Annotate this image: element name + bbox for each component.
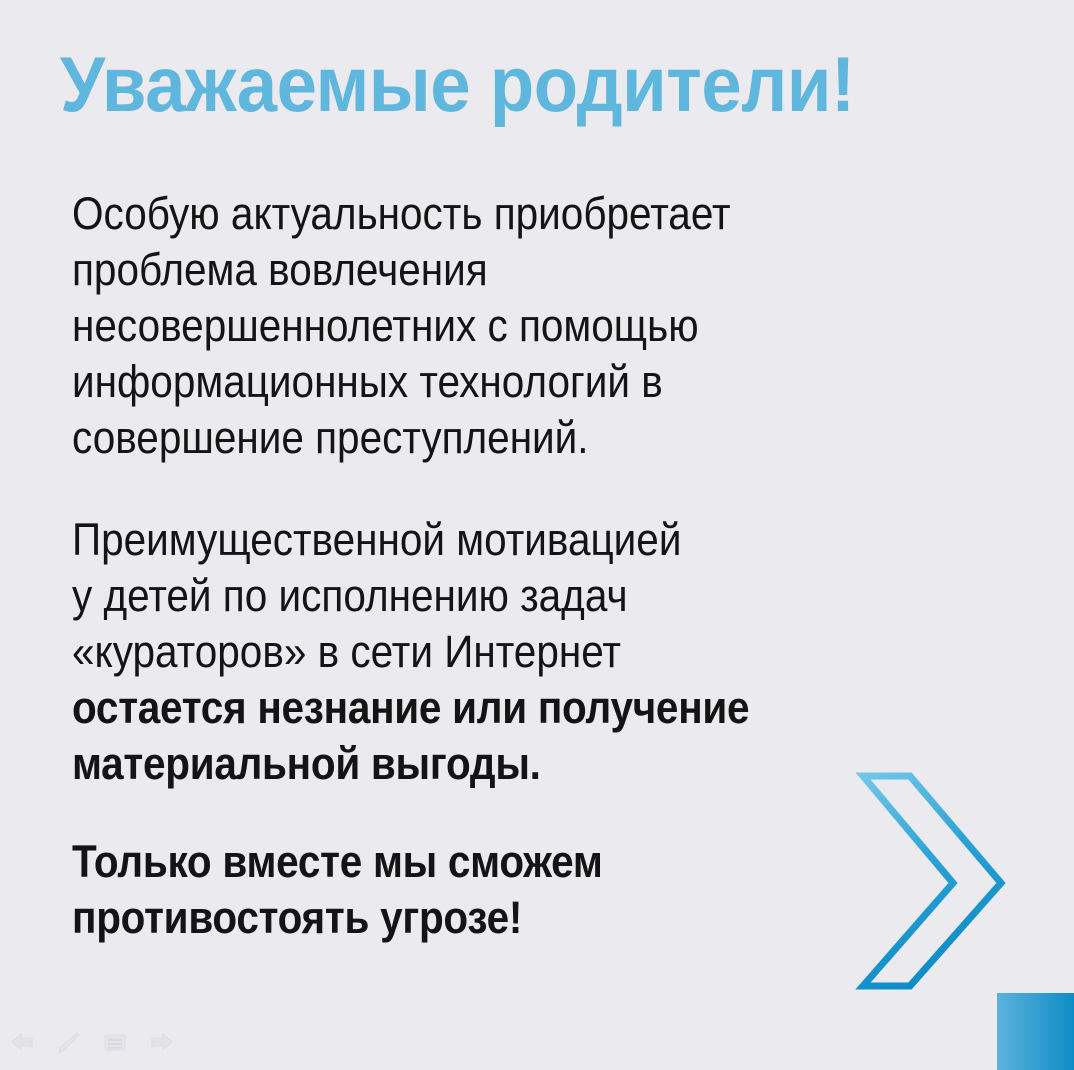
page-title: Уважаемые родители! [60,42,934,126]
arrow-right-icon[interactable] [146,1028,176,1056]
pencil-icon[interactable] [54,1028,84,1056]
paragraph-2-line-bold: остается незнание или получение [72,680,918,736]
paragraph-2: Преимущественной мотивацией у детей по и… [72,512,918,792]
paragraph-1-line: совершение преступлений. [72,410,918,466]
slide-body: Особую актуальность приобретает проблема… [72,186,1012,946]
paragraph-3-line: Только вместе мы сможем [72,834,918,890]
paragraph-3: Только вместе мы сможем противостоять уг… [72,834,918,946]
paragraph-1-line: Особую актуальность приобретает [72,186,918,242]
slide: Уважаемые родители! Особую актуальность … [0,0,1074,1070]
paragraph-3-line: противостоять угрозе! [72,890,918,946]
paragraph-1: Особую актуальность приобретает проблема… [72,186,918,466]
paragraph-1-line: проблема вовлечения [72,242,918,298]
paragraph-2-line-bold: материальной выгоды. [72,736,918,792]
paragraph-2-line: Преимущественной мотивацией [72,512,918,568]
bottom-toolbar[interactable] [8,1024,176,1060]
paragraph-1-line: несовершеннолетних с помощью [72,298,918,354]
arrow-left-icon[interactable] [8,1028,38,1056]
menu-icon[interactable] [100,1028,130,1056]
corner-accent-block [997,993,1074,1070]
paragraph-1-line: информационных технологий в [72,354,918,410]
paragraph-2-line: у детей по исполнению задач [72,568,918,624]
paragraph-2-line: «кураторов» в сети Интернет [72,624,918,680]
